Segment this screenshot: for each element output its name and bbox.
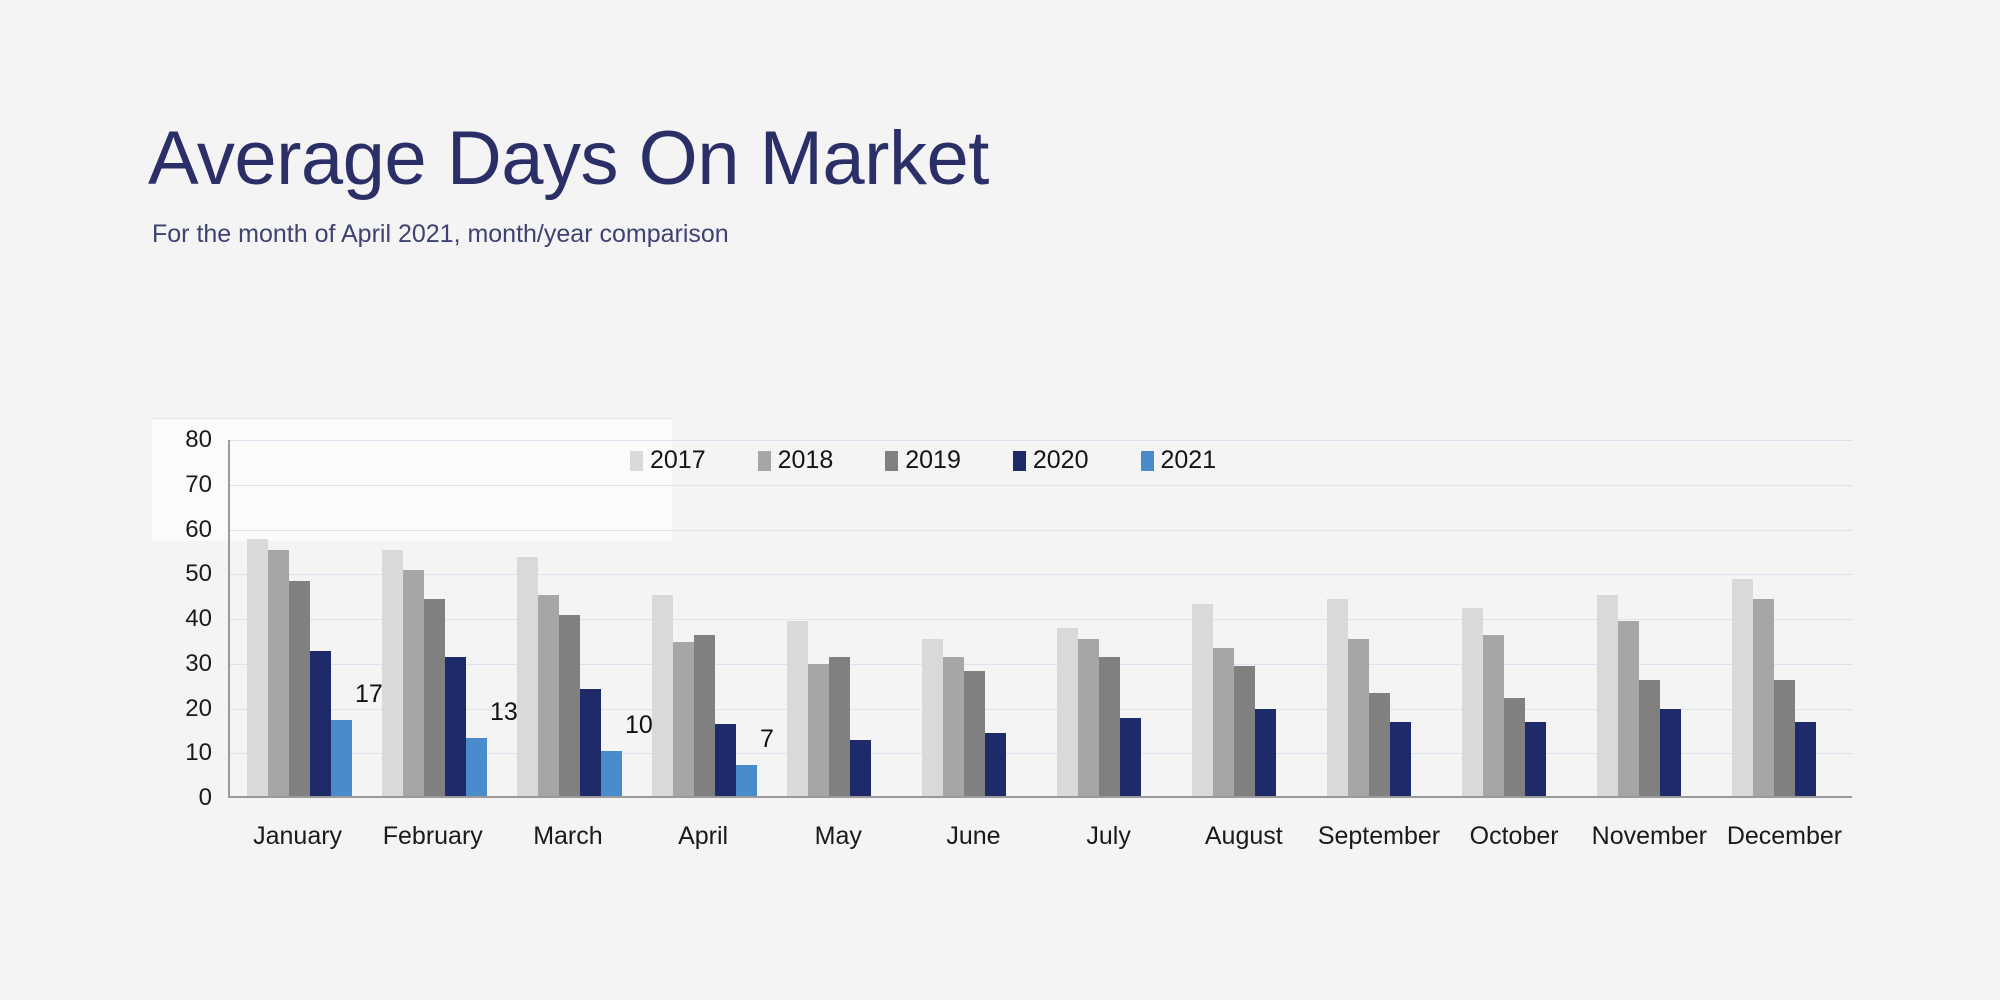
bar-2019-may[interactable] bbox=[829, 657, 850, 796]
plot-wrapper: 80706050403020100 20172018201920202021 1… bbox=[152, 440, 1852, 800]
legend-item-2020[interactable]: 2020 bbox=[1013, 448, 1089, 473]
plot-area: 20172018201920202021 1713107 bbox=[228, 440, 1852, 798]
bar-2017-october[interactable] bbox=[1462, 608, 1483, 796]
bar-2018-march[interactable] bbox=[538, 595, 559, 796]
legend-item-2018[interactable]: 2018 bbox=[758, 448, 834, 473]
legend-label: 2019 bbox=[905, 448, 961, 473]
x-axis-label-july: July bbox=[1041, 822, 1176, 851]
bar-2020-july[interactable] bbox=[1120, 718, 1141, 796]
y-axis-tick: 80 bbox=[185, 426, 212, 454]
bar-2019-january[interactable] bbox=[289, 581, 310, 796]
x-axis-label-december: December bbox=[1717, 822, 1852, 851]
bar-2020-april[interactable] bbox=[715, 724, 736, 796]
bar-group-march: 10 bbox=[502, 440, 637, 796]
bar-2019-february[interactable] bbox=[424, 599, 445, 796]
legend-item-2019[interactable]: 2019 bbox=[885, 448, 961, 473]
legend-item-2017[interactable]: 2017 bbox=[630, 448, 706, 473]
bar-2019-march[interactable] bbox=[559, 615, 580, 796]
bar-2019-december[interactable] bbox=[1774, 680, 1795, 796]
bar-2017-january[interactable] bbox=[247, 539, 268, 796]
x-axis-label-september: September bbox=[1311, 822, 1446, 851]
bar-group-july bbox=[1042, 440, 1177, 796]
bar-2018-june[interactable] bbox=[943, 657, 964, 796]
x-axis-label-august: August bbox=[1176, 822, 1311, 851]
bar-2019-june[interactable] bbox=[964, 671, 985, 796]
bar-2017-september[interactable] bbox=[1327, 599, 1348, 796]
bar-2019-november[interactable] bbox=[1639, 680, 1660, 796]
y-axis-tick: 40 bbox=[185, 605, 212, 633]
x-axis-label-march: March bbox=[500, 822, 635, 851]
bar-groups: 1713107 bbox=[232, 440, 1852, 796]
bar-group-june bbox=[907, 440, 1042, 796]
legend-label: 2017 bbox=[650, 448, 706, 473]
y-axis-tick: 50 bbox=[185, 560, 212, 588]
bar-2021-march[interactable]: 10 bbox=[601, 751, 622, 796]
y-axis-tick: 0 bbox=[199, 784, 212, 812]
chart-container: 80706050403020100 20172018201920202021 1… bbox=[152, 418, 1852, 838]
bar-2019-april[interactable] bbox=[694, 635, 715, 796]
legend-swatch-icon bbox=[885, 451, 898, 471]
bar-2018-october[interactable] bbox=[1483, 635, 1504, 796]
bar-group-august bbox=[1177, 440, 1312, 796]
bar-2019-october[interactable] bbox=[1504, 698, 1525, 796]
y-axis-tick: 60 bbox=[185, 516, 212, 544]
bar-2020-december[interactable] bbox=[1795, 722, 1816, 796]
bar-2019-august[interactable] bbox=[1234, 666, 1255, 796]
bar-2018-january[interactable] bbox=[268, 550, 289, 796]
bar-2017-march[interactable] bbox=[517, 557, 538, 796]
x-axis-label-february: February bbox=[365, 822, 500, 851]
bar-2018-august[interactable] bbox=[1213, 648, 1234, 796]
bar-2018-september[interactable] bbox=[1348, 639, 1369, 796]
y-axis: 80706050403020100 bbox=[152, 440, 212, 798]
bar-2020-august[interactable] bbox=[1255, 709, 1276, 796]
bar-2018-may[interactable] bbox=[808, 664, 829, 796]
legend-swatch-icon bbox=[630, 451, 643, 471]
bar-group-november bbox=[1582, 440, 1717, 796]
legend-item-2021[interactable]: 2021 bbox=[1141, 448, 1217, 473]
bar-2017-february[interactable] bbox=[382, 550, 403, 796]
x-axis-label-june: June bbox=[906, 822, 1041, 851]
legend-swatch-icon bbox=[1013, 451, 1026, 471]
bar-2017-december[interactable] bbox=[1732, 579, 1753, 796]
bar-group-april: 7 bbox=[637, 440, 772, 796]
legend-label: 2018 bbox=[778, 448, 834, 473]
bar-2017-july[interactable] bbox=[1057, 628, 1078, 796]
bar-2017-may[interactable] bbox=[787, 621, 808, 796]
legend-swatch-icon bbox=[1141, 451, 1154, 471]
page-title: Average Days On Market bbox=[148, 120, 1648, 198]
bar-2017-november[interactable] bbox=[1597, 595, 1618, 796]
y-axis-tick: 10 bbox=[185, 739, 212, 767]
bar-2019-july[interactable] bbox=[1099, 657, 1120, 796]
bar-2020-september[interactable] bbox=[1390, 722, 1411, 796]
bar-2019-september[interactable] bbox=[1369, 693, 1390, 796]
bar-2020-march[interactable] bbox=[580, 689, 601, 796]
bar-2017-august[interactable] bbox=[1192, 604, 1213, 796]
bar-2021-january[interactable]: 17 bbox=[331, 720, 352, 796]
bar-2020-october[interactable] bbox=[1525, 722, 1546, 796]
bar-group-october bbox=[1447, 440, 1582, 796]
bar-2018-february[interactable] bbox=[403, 570, 424, 796]
bar-2020-november[interactable] bbox=[1660, 709, 1681, 796]
bar-2018-december[interactable] bbox=[1753, 599, 1774, 796]
bar-2020-february[interactable] bbox=[445, 657, 466, 796]
x-axis: JanuaryFebruaryMarchAprilMayJuneJulyAugu… bbox=[230, 822, 1852, 851]
y-axis-tick: 20 bbox=[185, 695, 212, 723]
bar-2020-may[interactable] bbox=[850, 740, 871, 796]
slide-canvas: Average Days On Market For the month of … bbox=[0, 0, 2000, 1000]
bar-2020-june[interactable] bbox=[985, 733, 1006, 796]
header: Average Days On Market For the month of … bbox=[148, 120, 1648, 249]
page-subtitle: For the month of April 2021, month/year … bbox=[152, 220, 1648, 249]
legend-label: 2021 bbox=[1161, 448, 1217, 473]
chart-legend: 20172018201920202021 bbox=[630, 448, 1216, 473]
bar-2018-july[interactable] bbox=[1078, 639, 1099, 796]
bar-group-december bbox=[1717, 440, 1852, 796]
bar-group-february: 13 bbox=[367, 440, 502, 796]
x-axis-label-november: November bbox=[1582, 822, 1717, 851]
bar-group-may bbox=[772, 440, 907, 796]
bar-2020-january[interactable] bbox=[310, 651, 331, 796]
bar-2017-june[interactable] bbox=[922, 639, 943, 796]
y-axis-tick: 30 bbox=[185, 650, 212, 678]
bar-2018-november[interactable] bbox=[1618, 621, 1639, 796]
y-axis-tick: 70 bbox=[185, 471, 212, 499]
x-axis-label-january: January bbox=[230, 822, 365, 851]
bar-group-january: 17 bbox=[232, 440, 367, 796]
legend-swatch-icon bbox=[758, 451, 771, 471]
legend-label: 2020 bbox=[1033, 448, 1089, 473]
bar-2021-april[interactable]: 7 bbox=[736, 765, 757, 796]
bar-2018-april[interactable] bbox=[673, 642, 694, 796]
x-axis-label-april: April bbox=[636, 822, 771, 851]
bar-2017-april[interactable] bbox=[652, 595, 673, 796]
bar-group-september bbox=[1312, 440, 1447, 796]
bar-2021-february[interactable]: 13 bbox=[466, 738, 487, 796]
x-axis-label-may: May bbox=[771, 822, 906, 851]
x-axis-label-october: October bbox=[1447, 822, 1582, 851]
